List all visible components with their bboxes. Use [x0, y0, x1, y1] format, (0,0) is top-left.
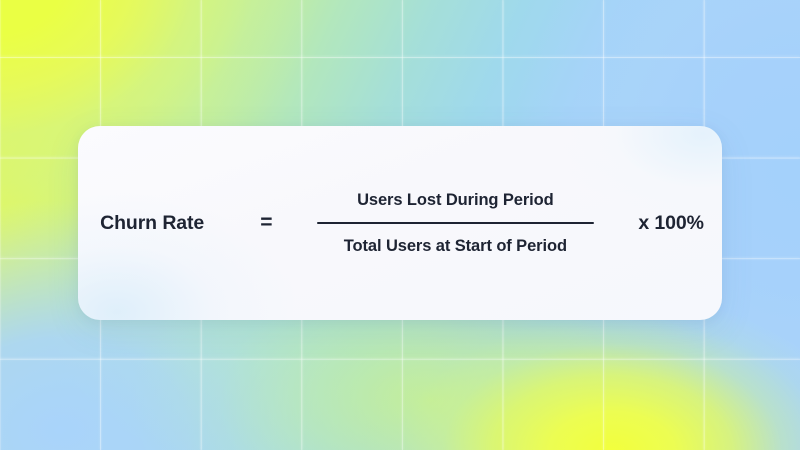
formula-equation: Churn Rate = Users Lost During Period To… — [78, 192, 722, 254]
formula-denominator: Total Users at Start of Period — [344, 238, 567, 255]
formula-fraction: Users Lost During Period Total Users at … — [312, 192, 598, 254]
formula-multiplier: x 100% — [638, 212, 704, 235]
formula-equals-sign: = — [260, 211, 272, 235]
formula-graphic: Churn Rate = Users Lost During Period To… — [0, 0, 800, 450]
formula-numerator: Users Lost During Period — [357, 192, 554, 209]
formula-label-churn-rate: Churn Rate — [100, 212, 204, 235]
formula-fraction-bar — [317, 222, 594, 224]
formula-card: Churn Rate = Users Lost During Period To… — [78, 126, 722, 320]
